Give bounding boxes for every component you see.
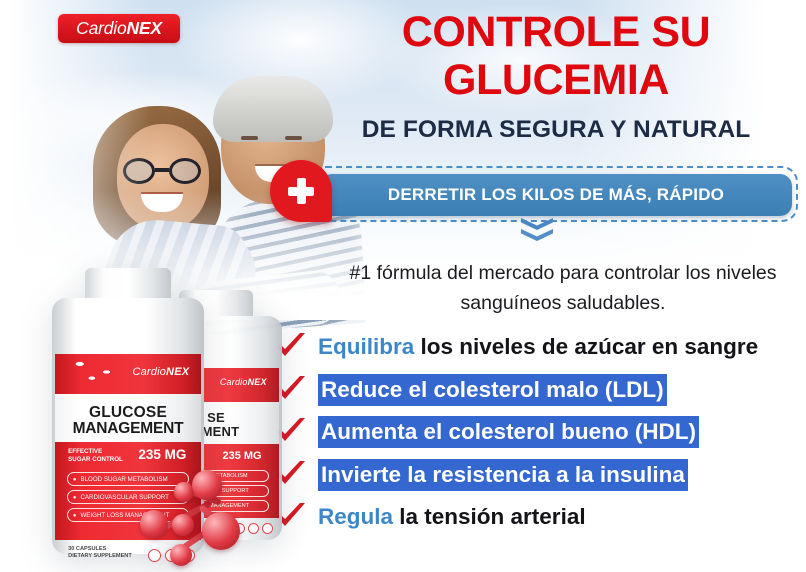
- list-item: Aumenta el colesterol bueno (HDL): [274, 411, 806, 454]
- benefit-lead: Reduce: [321, 377, 402, 402]
- molecule-graphic: [140, 468, 300, 572]
- cta-button[interactable]: DERRETIR LOS KILOS DE MÁS, RÁPIDO: [320, 174, 792, 216]
- benefit-lead: Aumenta: [321, 419, 417, 444]
- bottle-footer-line2: DIETARY SUPPLEMENT: [68, 553, 132, 560]
- bottle-dosage: 235 MG: [138, 447, 186, 462]
- logo-suffix: NEX: [126, 18, 161, 38]
- logo-prefix: Cardio: [76, 18, 126, 38]
- benefit-text: Equilibra los niveles de azúcar en sangr…: [318, 332, 758, 362]
- benefit-rest: el colesterol bueno (HDL): [417, 419, 696, 444]
- list-item: Regula la tensión arterial: [274, 496, 806, 539]
- bottle-back-dosage: 235 MG: [222, 450, 261, 462]
- benefit-rest: el colesterol malo (LDL): [402, 377, 663, 402]
- list-item: Equilibra los niveles de azúcar en sangr…: [274, 326, 806, 369]
- list-item: Invierte la resistencia a la insulina: [274, 454, 806, 497]
- benefit-lead: Regula: [318, 504, 393, 529]
- benefit-rest: los niveles de azúcar en sangre: [414, 334, 758, 359]
- headline-line-2: GLUCEMIA: [310, 56, 802, 104]
- benefit-rest: la resistencia a la insulina: [401, 462, 685, 487]
- bottle-tagline-line1: EFFECTIVE: [68, 448, 123, 456]
- benefit-rest: la tensión arterial: [393, 504, 586, 529]
- bottle-tagline-line2: SUGAR CONTROL: [68, 456, 123, 464]
- bottle-footer-line1: 30 CAPSULES: [68, 546, 132, 553]
- brand-logo: CardioNEX: [58, 14, 180, 43]
- chevron-double-down-icon[interactable]: [517, 218, 557, 248]
- hero-lede: #1 fórmula del mercado para controlar lo…: [324, 258, 802, 318]
- benefits-list: Equilibra los niveles de azúcar en sangr…: [274, 326, 806, 539]
- landing-page: CardioNEX CardioNEX SE EMENT 235: [0, 0, 806, 572]
- plus-icon: [270, 160, 332, 222]
- page-subheadline: DE FORMA SEGURA Y NATURAL: [310, 116, 802, 144]
- benefit-text: Reduce el colesterol malo (LDL): [318, 374, 667, 406]
- cta-banner: DERRETIR LOS KILOS DE MÁS, RÁPIDO: [264, 160, 806, 238]
- headline-line-1: CONTROLE SU: [310, 8, 802, 56]
- page-headline: CONTROLE SU GLUCEMIA: [310, 8, 802, 104]
- bottle-back-brand-suffix: NEX: [248, 377, 267, 387]
- benefit-lead: Invierte: [321, 462, 401, 487]
- lede-line-2: sanguíneos saludables.: [461, 292, 666, 314]
- bottle-name-line2: MANAGEMENT: [55, 420, 201, 438]
- lede-line-1: #1 fórmula del mercado para controlar lo…: [349, 262, 776, 284]
- benefit-text: Aumenta el colesterol bueno (HDL): [318, 416, 699, 448]
- benefit-text: Regula la tensión arterial: [318, 502, 586, 532]
- benefit-text: Invierte la resistencia a la insulina: [318, 459, 688, 491]
- bottle-back-brand-prefix: Cardio: [220, 377, 248, 387]
- bottle-brand-suffix: NEX: [166, 366, 189, 378]
- hero-copy: CONTROLE SU GLUCEMIA DE FORMA SEGURA Y N…: [316, 0, 806, 572]
- list-item: Reduce el colesterol malo (LDL): [274, 369, 806, 412]
- bottle-brand-prefix: Cardio: [132, 366, 166, 378]
- benefit-lead: Equilibra: [318, 334, 414, 359]
